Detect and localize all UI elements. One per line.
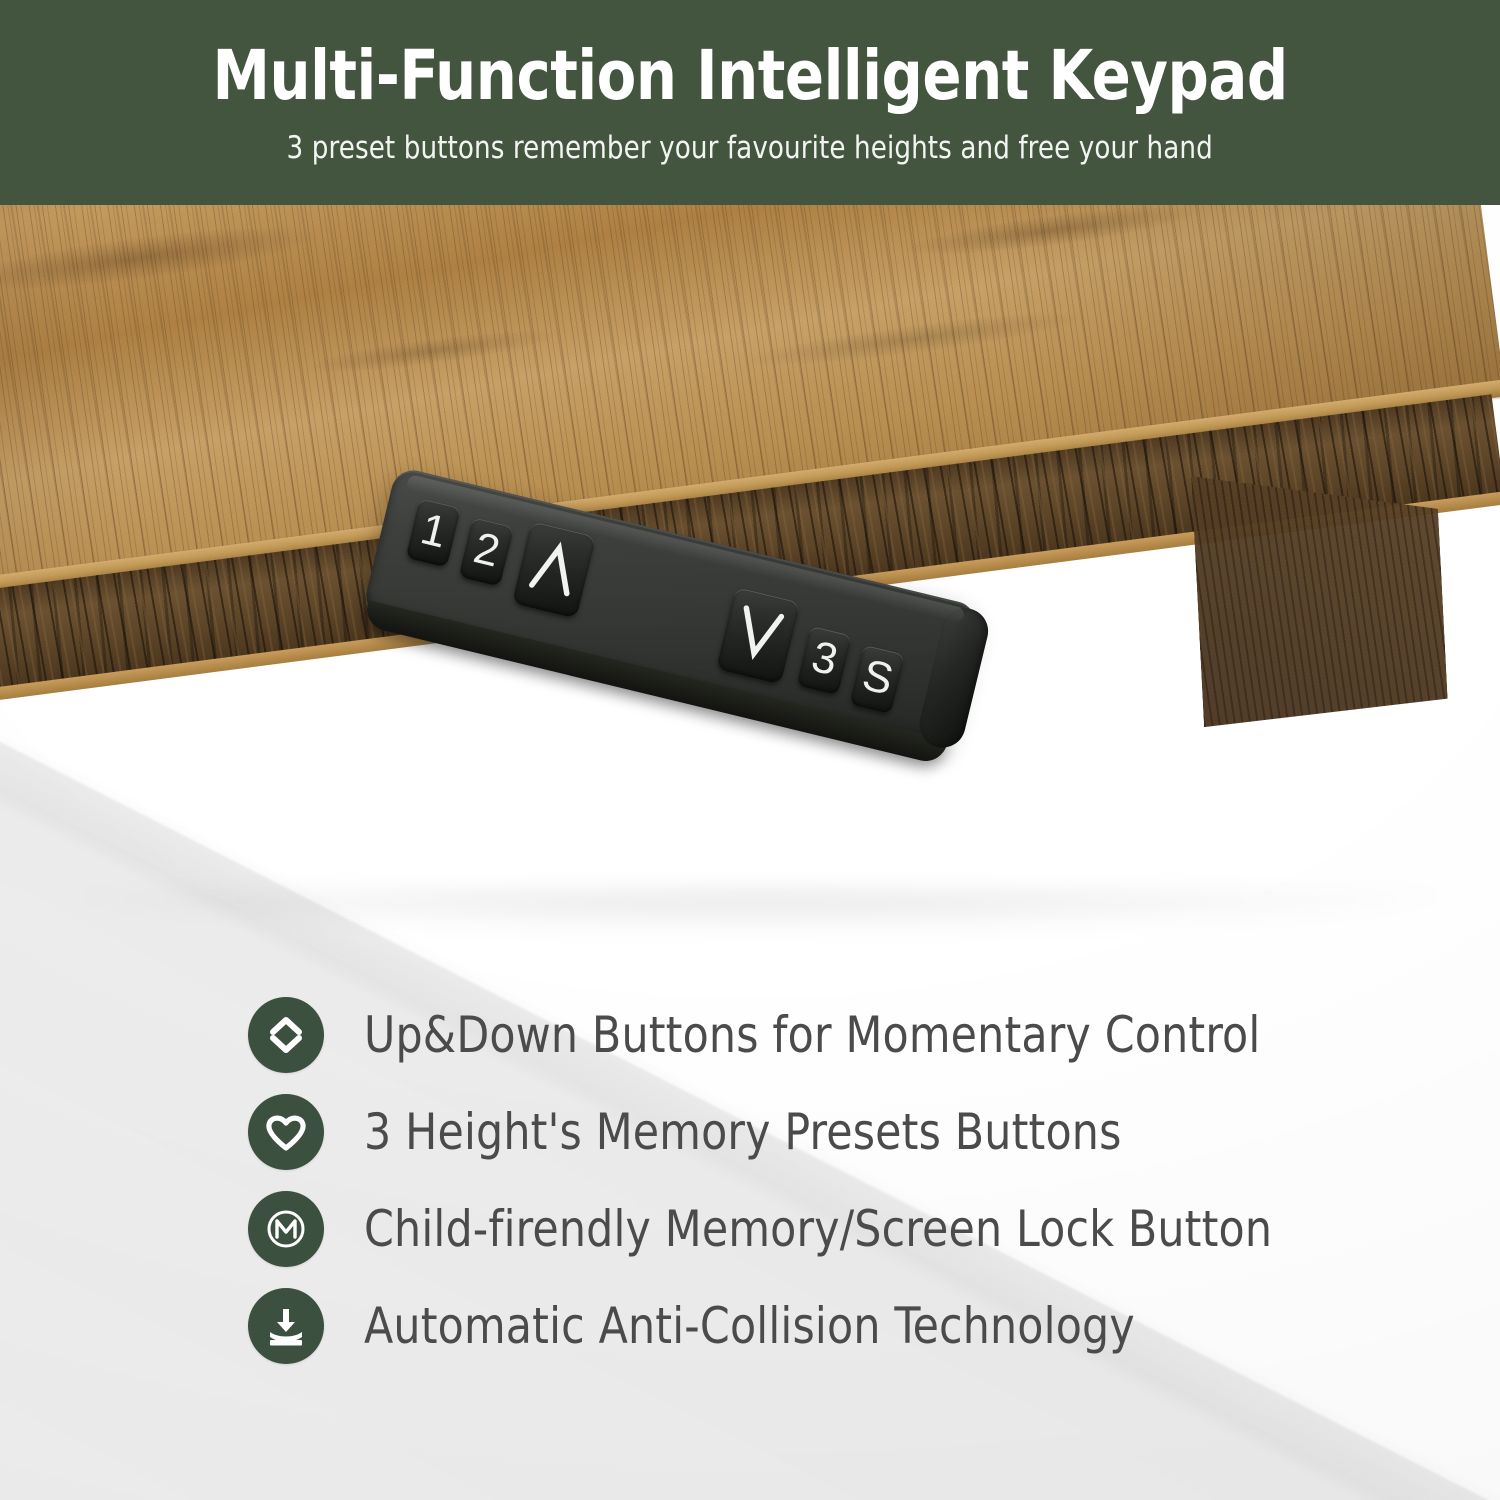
keypad-end-cap (915, 603, 993, 752)
infographic-canvas: Multi-Function Intelligent Keypad 3 pres… (0, 0, 1500, 1500)
keypad-button-preset-1-label: 1 (417, 507, 451, 556)
letter-m-icon (248, 1191, 324, 1267)
keypad-button-preset-3-label: 3 (808, 635, 842, 684)
keypad-assembly: 1 2 3 (397, 466, 1017, 796)
chevron-up-icon (524, 535, 583, 605)
keypad-button-set-label: S (858, 653, 897, 703)
desk-drop-shadow (0, 890, 1500, 950)
up-down-chevrons-icon (248, 997, 324, 1073)
keypad-body: 1 2 3 (362, 466, 980, 753)
keypad-button-up[interactable] (512, 521, 596, 618)
chevron-down-icon (729, 601, 788, 671)
feature-label-anti-collision: Automatic Anti-Collision Technology (364, 1301, 1135, 1351)
feature-label-lock: Child-firendly Memory/Screen Lock Button (364, 1204, 1272, 1254)
keypad-button-set[interactable]: S (850, 645, 905, 714)
feature-label-up-down: Up&Down Buttons for Momentary Control (364, 1010, 1260, 1060)
feature-label-memory-presets: 3 Height's Memory Presets Buttons (364, 1107, 1122, 1157)
keypad-button-down[interactable] (716, 587, 800, 684)
keypad-button-preset-3[interactable]: 3 (797, 626, 852, 695)
feature-row-memory-presets: 3 Height's Memory Presets Buttons (248, 1083, 1428, 1180)
header-banner: Multi-Function Intelligent Keypad 3 pres… (0, 0, 1500, 205)
keypad-button-preset-2[interactable]: 2 (459, 517, 514, 586)
heart-icon (248, 1094, 324, 1170)
feature-row-anti-collision: Automatic Anti-Collision Technology (248, 1277, 1428, 1374)
feature-row-lock: Child-firendly Memory/Screen Lock Button (248, 1180, 1428, 1277)
feature-list: Up&Down Buttons for Momentary Control 3 … (248, 986, 1428, 1374)
keypad-button-preset-1[interactable]: 1 (406, 498, 461, 567)
page-subtitle: 3 preset buttons remember your favourite… (287, 133, 1213, 164)
keypad-button-preset-2-label: 2 (470, 526, 504, 575)
anti-collision-icon (248, 1288, 324, 1364)
page-title: Multi-Function Intelligent Keypad (212, 42, 1287, 111)
feature-row-up-down: Up&Down Buttons for Momentary Control (248, 986, 1428, 1083)
